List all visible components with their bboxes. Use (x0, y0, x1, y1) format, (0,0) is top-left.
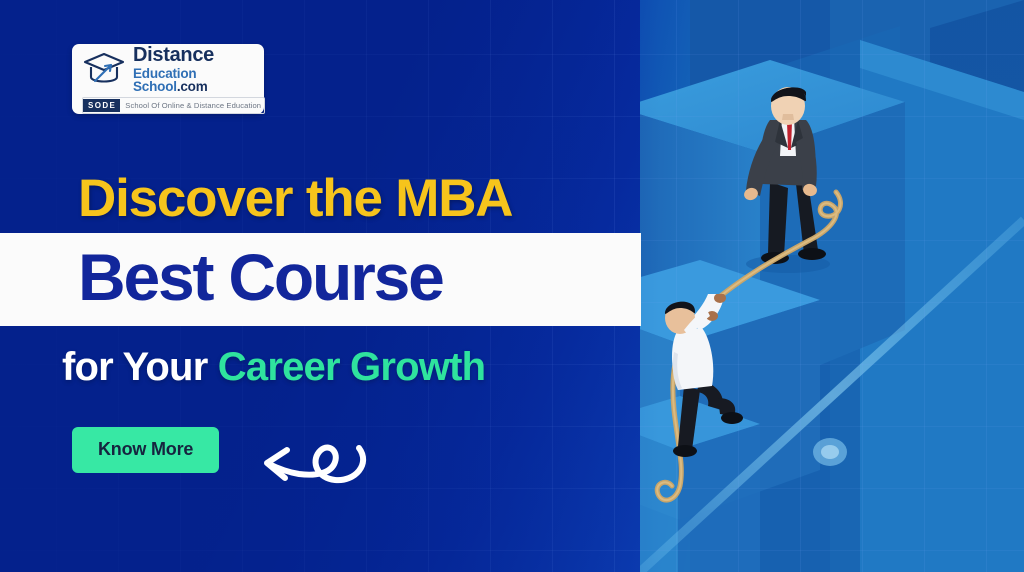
headline-line-1: Discover the MBA (78, 168, 512, 229)
promo-banner: Distance Education School.com SODE Schoo… (0, 0, 1024, 572)
logo-tagline: School Of Online & Distance Education (125, 101, 261, 110)
man-climbing-rope (648, 294, 768, 484)
headline-line-3-plain: for Your (62, 345, 218, 389)
headline-line-3: for Your Career Growth (62, 345, 485, 390)
know-more-button[interactable]: Know More (72, 427, 219, 473)
logo-wordmark: Distance Education School.com (133, 45, 256, 94)
graduation-cap-icon (81, 50, 127, 88)
sode-badge: SODE (83, 99, 120, 112)
logo-line-1: Distance (133, 45, 256, 65)
logo-domain: .com (177, 79, 208, 94)
logo-line-2: Education School.com (133, 67, 256, 94)
logo-top-row: Distance Education School.com (81, 45, 256, 94)
headline-line-3-accent: Career Growth (218, 345, 485, 389)
logo[interactable]: Distance Education School.com SODE Schoo… (72, 44, 264, 114)
headline-line-2: Best Course (78, 243, 443, 312)
curved-arrow-doodle (243, 424, 373, 498)
logo-tagline-row: SODE School Of Online & Distance Educati… (82, 97, 265, 114)
